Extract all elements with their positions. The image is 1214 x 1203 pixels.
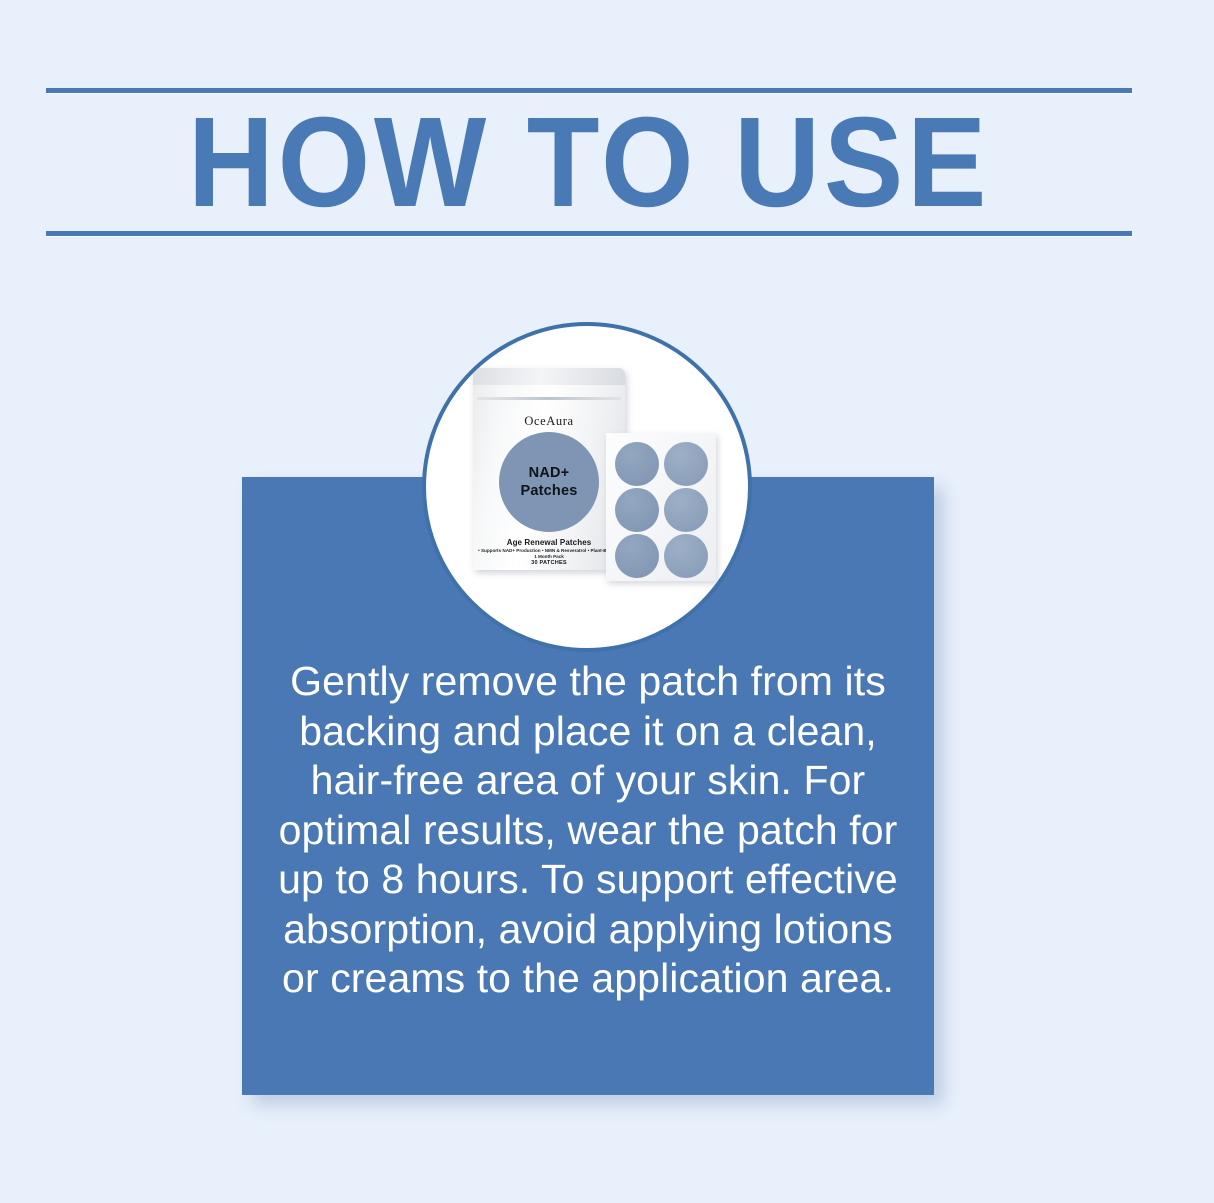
pouch-label-line-2: Patches [520,482,577,500]
pouch-bullet-list: • Supports NAD+ Production • NMN & Resve… [477,548,621,560]
patch-dot [664,442,708,486]
instruction-text: Gently remove the patch from its backing… [278,657,898,1004]
patch-dot [664,488,708,532]
header-divider-bottom [46,231,1132,236]
pouch-label-line-1: NAD+ [529,464,570,482]
pouch-zipper-seal [477,397,621,400]
patch-dot [615,488,659,532]
pouch-top-fold [473,368,625,385]
patch-sheet [606,433,716,581]
page-title: HOW TO USE [84,94,1094,231]
page-header: HOW TO USE [46,88,1132,236]
patch-dot [615,534,659,578]
pouch-brand-name: OceAura [473,414,625,429]
pouch-label-circle: NAD+ Patches [499,432,599,532]
product-image-circle: OceAura NAD+ Patches Age Renewal Patches… [422,322,752,652]
patch-dot [664,534,708,578]
pouch-patch-count: 30 PATCHES [473,560,625,566]
patch-grid [613,442,709,572]
patch-dot [615,442,659,486]
product-pouch: OceAura NAD+ Patches Age Renewal Patches… [473,368,625,570]
product-photo: OceAura NAD+ Patches Age Renewal Patches… [426,326,752,652]
pouch-subtitle: Age Renewal Patches [473,538,625,547]
